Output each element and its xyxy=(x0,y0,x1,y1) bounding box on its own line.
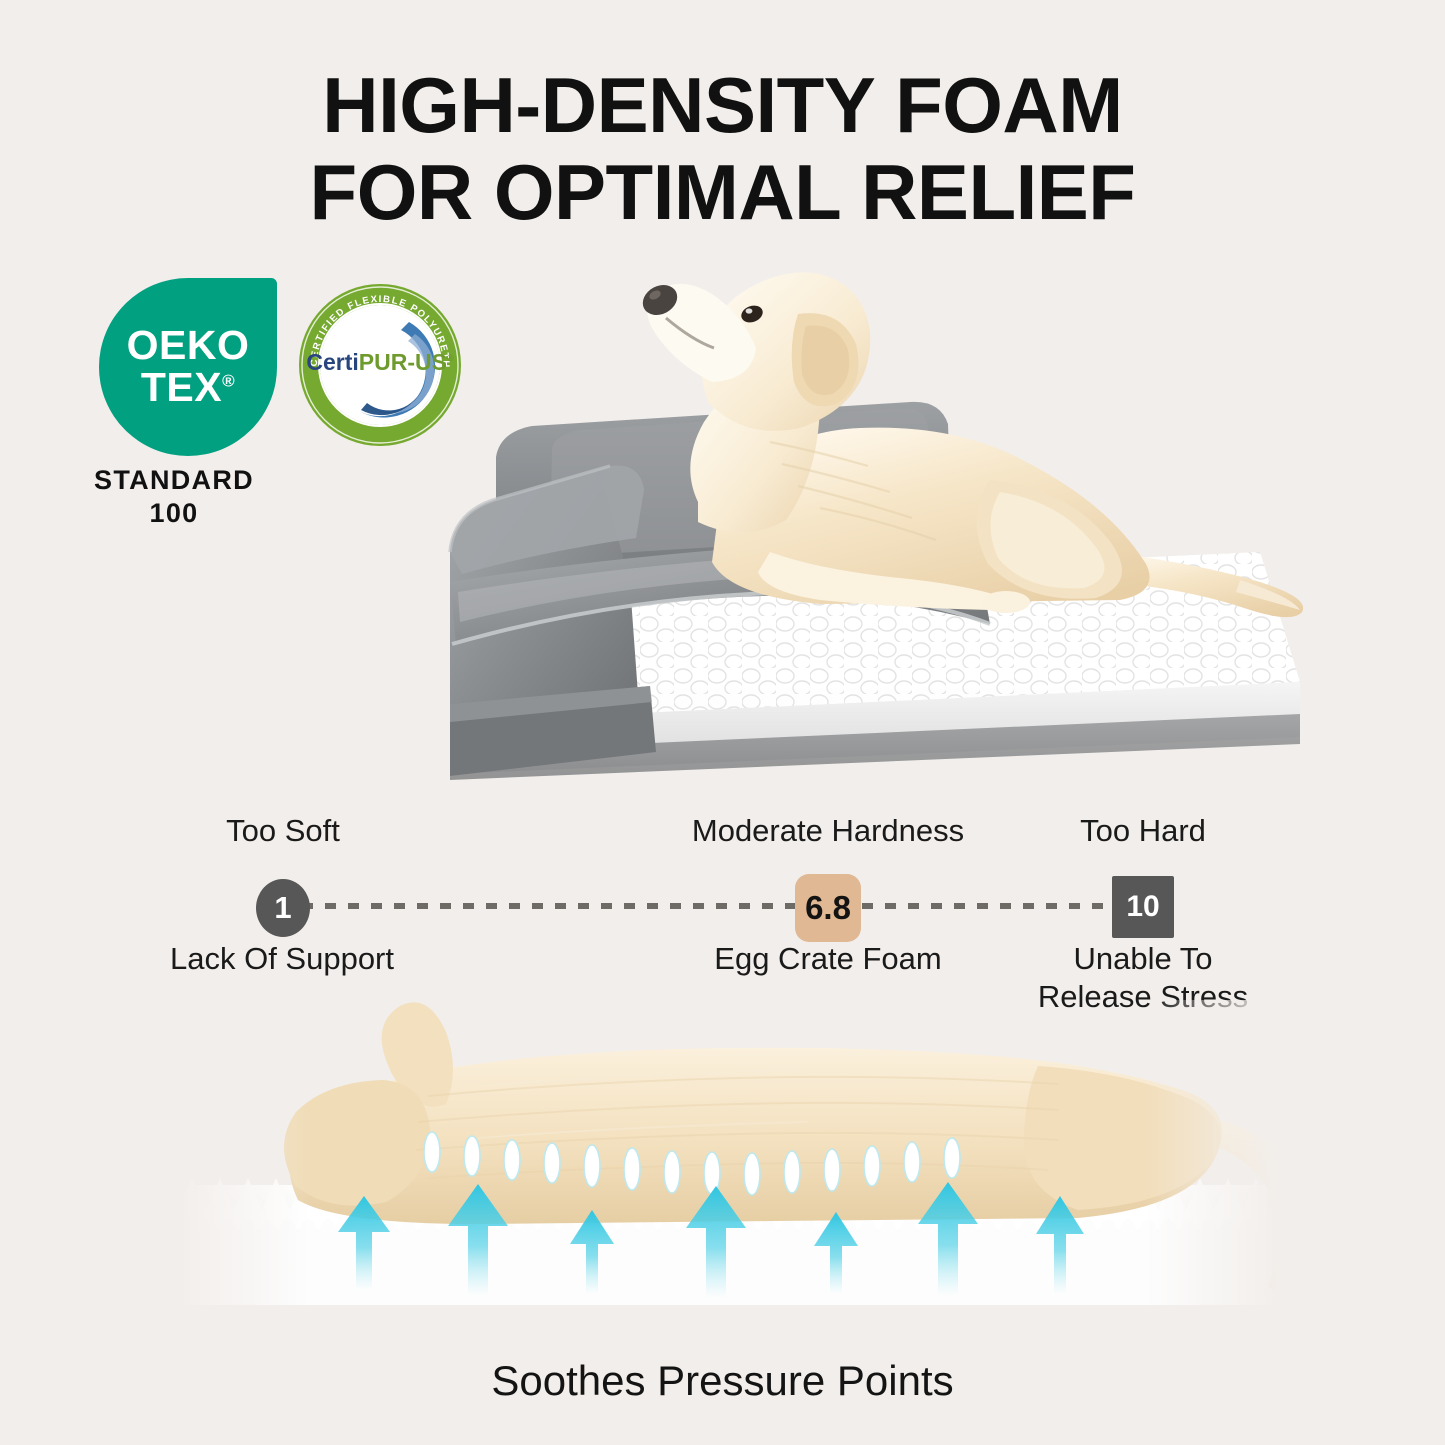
oeko-tex-caption-line-2: 100 xyxy=(150,498,199,528)
footer-caption: Soothes Pressure Points xyxy=(0,1357,1445,1405)
scale-caption-egg-crate-foam: Egg Crate Foam xyxy=(663,940,993,978)
infographic-page: HIGH-DENSITY FOAM FOR OPTIMAL RELIEF OEK… xyxy=(0,0,1445,1445)
scale-track: 1 6.8 10 xyxy=(150,874,1300,936)
scale-label-too-hard: Too Hard xyxy=(1022,812,1264,849)
scale-node-10: 10 xyxy=(1112,876,1174,938)
scale-label-too-soft: Too Soft xyxy=(153,812,413,849)
scale-caption-right-line-1: Unable To xyxy=(1073,941,1212,976)
scale-connector-right xyxy=(862,903,1124,909)
oeko-tex-caption: STANDARD 100 xyxy=(63,464,285,530)
pressure-relief-illustration xyxy=(178,1000,1278,1330)
headline-line-1: HIGH-DENSITY FOAM xyxy=(0,62,1445,149)
pressure-foam-diagram xyxy=(178,1000,1278,1330)
hardness-scale: Too Soft Moderate Hardness Too Hard 1 6.… xyxy=(150,812,1300,1002)
headline-line-2: FOR OPTIMAL RELIEF xyxy=(0,149,1445,236)
page-title: HIGH-DENSITY FOAM FOR OPTIMAL RELIEF xyxy=(0,62,1445,237)
dog-bed-illustration xyxy=(300,252,1310,792)
scale-node-1: 1 xyxy=(256,879,310,937)
hero-product-image xyxy=(300,252,1310,792)
oeko-tex-badge: OEKO TEX® xyxy=(99,278,277,456)
oeko-tex-line-2: TEX® xyxy=(141,367,235,409)
scale-node-6-8: 6.8 xyxy=(795,874,861,942)
oeko-tex-caption-line-1: STANDARD xyxy=(94,465,254,495)
oeko-tex-line-1: OEKO xyxy=(127,325,250,367)
scale-label-moderate-hardness: Moderate Hardness xyxy=(650,812,1006,849)
scale-caption-lack-of-support: Lack Of Support xyxy=(132,940,432,978)
scale-connector-left xyxy=(302,903,802,909)
oeko-tex-droplet-icon: OEKO TEX® xyxy=(99,278,277,456)
